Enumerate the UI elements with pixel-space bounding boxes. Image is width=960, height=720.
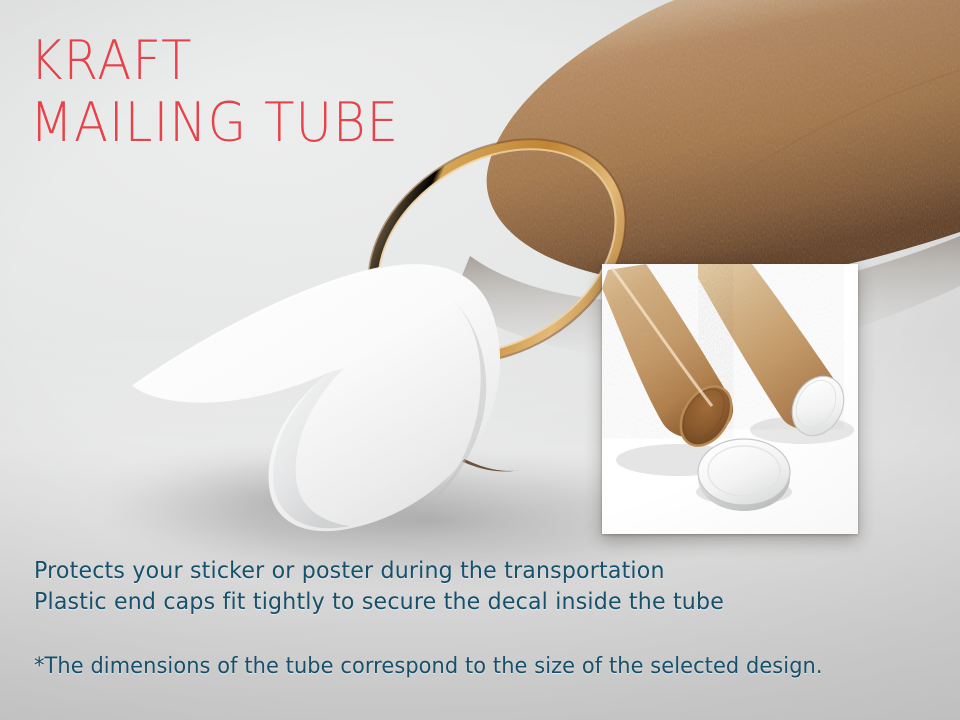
page-title: KRAFT MAILING TUBE	[30, 30, 650, 154]
feature-line-1: Protects your sticker or poster during t…	[34, 556, 724, 587]
headline-line-2: MAILING TUBE	[30, 92, 600, 154]
headline-line-1: KRAFT	[30, 30, 600, 92]
feature-line-2: Plastic end caps fit tightly to secure t…	[34, 587, 724, 618]
feature-description: Protects your sticker or poster during t…	[34, 556, 753, 618]
footnote-text: *The dimensions of the tube correspond t…	[34, 652, 823, 682]
product-hero-banner: KRAFT MAILING TUBE Protects your sticker…	[0, 0, 960, 720]
